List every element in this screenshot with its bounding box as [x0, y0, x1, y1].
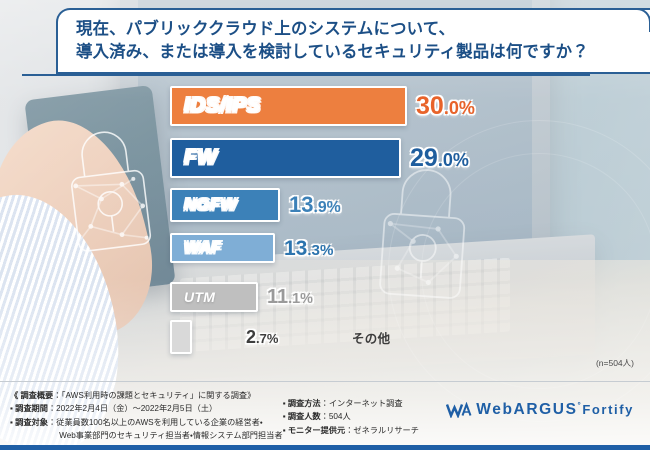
bar-- — [170, 320, 192, 354]
bar-value-int: 13 — [289, 192, 313, 217]
bar-value-int: 13 — [284, 237, 307, 260]
bar-value: 11.1% — [267, 287, 313, 307]
footer-line-key: ▪ 調査対象 — [10, 418, 48, 427]
bar-value: 2.7% — [246, 328, 278, 346]
footer-line-value: ：インターネット調査 — [321, 399, 403, 408]
bar-value-int: 29 — [410, 144, 438, 172]
footer-line-key: ▪ 調査方法 — [283, 399, 321, 408]
bar-utm: UTM — [170, 282, 258, 312]
footer-line-value: Web事業部門のセキュリティ担当者・情報システム部門担当者 — [10, 431, 283, 440]
chart-row: NGFW13.9% — [170, 188, 341, 222]
footer-right-column: ▪ 調査方法：インターネット調査▪ 調査人数：504人▪ モニター提供元：ゼネラ… — [283, 389, 447, 437]
bottom-accent-bar — [0, 445, 650, 450]
bar-value: 13.9% — [289, 194, 341, 216]
bar-value: 29.0% — [410, 146, 469, 171]
infographic-poster: 現在、パブリッククラウド上のシステムについて、 導入済み、または導入を検討してい… — [0, 0, 650, 450]
bar-value-int: 2 — [246, 327, 256, 347]
logo-text: WebARGUS°Fortify — [476, 401, 634, 419]
footer-line-key: 《 調査概要 — [10, 391, 53, 400]
footer-line: Web事業部門のセキュリティ担当者・情報システム部門担当者 — [10, 429, 283, 442]
chart-row: その他2.7% — [170, 320, 278, 354]
bar-value-dec: .1% — [288, 291, 313, 307]
bar-value-int: 30 — [416, 92, 444, 120]
bar-value-dec: .0% — [438, 150, 469, 170]
bar-value-dec: .7% — [256, 331, 278, 346]
chart-row: WAF13.3% — [170, 233, 333, 263]
logo-web: Web — [476, 401, 513, 418]
bar-value-dec: .0% — [444, 98, 475, 118]
footer-line-key: ▪ モニター提供元 — [283, 426, 346, 435]
footer-line-value: ：ゼネラルリサーチ — [345, 426, 419, 435]
chart-row: UTM11.1% — [170, 282, 313, 312]
footer-line-value: ：2022年2月4日（金）～2022年2月5日（土） — [48, 404, 217, 413]
footer-line: ▪ 調査対象：従業員数100名以上のAWSを利用している企業の経営者・ — [10, 416, 283, 429]
bar-fw: FW — [170, 138, 401, 178]
bar-label: WAF — [172, 239, 222, 258]
wa-logo-icon — [446, 402, 472, 418]
logo-argus: ARGUS — [514, 401, 578, 418]
footer-line-value: ：「AWS利用時の課題とセキュリティ」に関する調査》 — [53, 391, 255, 400]
bar-label: UTM — [172, 289, 215, 305]
bar-waf: WAF — [170, 233, 275, 263]
footer-divider — [0, 381, 650, 382]
page-title: 現在、パブリッククラウド上のシステムについて、 導入済み、または導入を検討してい… — [58, 18, 589, 65]
footer-line: ▪ モニター提供元：ゼネラルリサーチ — [283, 424, 447, 437]
bar-ids-ips: IDS/IPS — [170, 86, 407, 126]
title-box: 現在、パブリッククラウド上のシステムについて、 導入済み、または導入を検討してい… — [56, 8, 650, 74]
chart-row: IDS/IPS30.0% — [170, 86, 475, 126]
bar-value-dec: .9% — [313, 199, 340, 216]
bar-label: FW — [172, 146, 217, 170]
footer-line-key: ▪ 調査人数 — [283, 412, 321, 421]
bar-value-dec: .3% — [307, 242, 333, 259]
bar-value-int: 11 — [267, 286, 288, 308]
bar-chart: IDS/IPS30.0%FW29.0%NGFW13.9%WAF13.3%UTM1… — [0, 86, 650, 344]
footer-line-value: ：504人 — [321, 412, 351, 421]
sample-size-note: (n=504人) — [596, 357, 634, 369]
footer: 《 調査概要：「AWS利用時の課題とセキュリティ」に関する調査》▪ 調査期間：2… — [0, 389, 650, 443]
chart-row: FW29.0% — [170, 138, 469, 178]
footer-line-key: ▪ 調査期間 — [10, 404, 48, 413]
brand-logo: WebARGUS°Fortify — [446, 389, 640, 419]
bar-label: IDS/IPS — [172, 94, 261, 118]
bar-value: 13.3% — [284, 238, 333, 259]
bar-label: NGFW — [172, 195, 237, 215]
footer-line: ▪ 調査方法：インターネット調査 — [283, 397, 447, 410]
bar-value: 30.0% — [416, 94, 475, 119]
bar-ngfw: NGFW — [170, 188, 280, 222]
footer-line: ▪ 調査期間：2022年2月4日（金）～2022年2月5日（土） — [10, 402, 283, 415]
logo-fortify: Fortify — [582, 402, 634, 417]
bar-label: その他 — [348, 328, 390, 347]
footer-line-value: ：従業員数100名以上のAWSを利用している企業の経営者・ — [48, 418, 263, 427]
footer-left-column: 《 調査概要：「AWS利用時の課題とセキュリティ」に関する調査》▪ 調査期間：2… — [10, 389, 283, 442]
footer-line: 《 調査概要：「AWS利用時の課題とセキュリティ」に関する調査》 — [10, 389, 283, 402]
footer-line: ▪ 調査人数：504人 — [283, 410, 447, 423]
title-underline — [22, 74, 590, 76]
